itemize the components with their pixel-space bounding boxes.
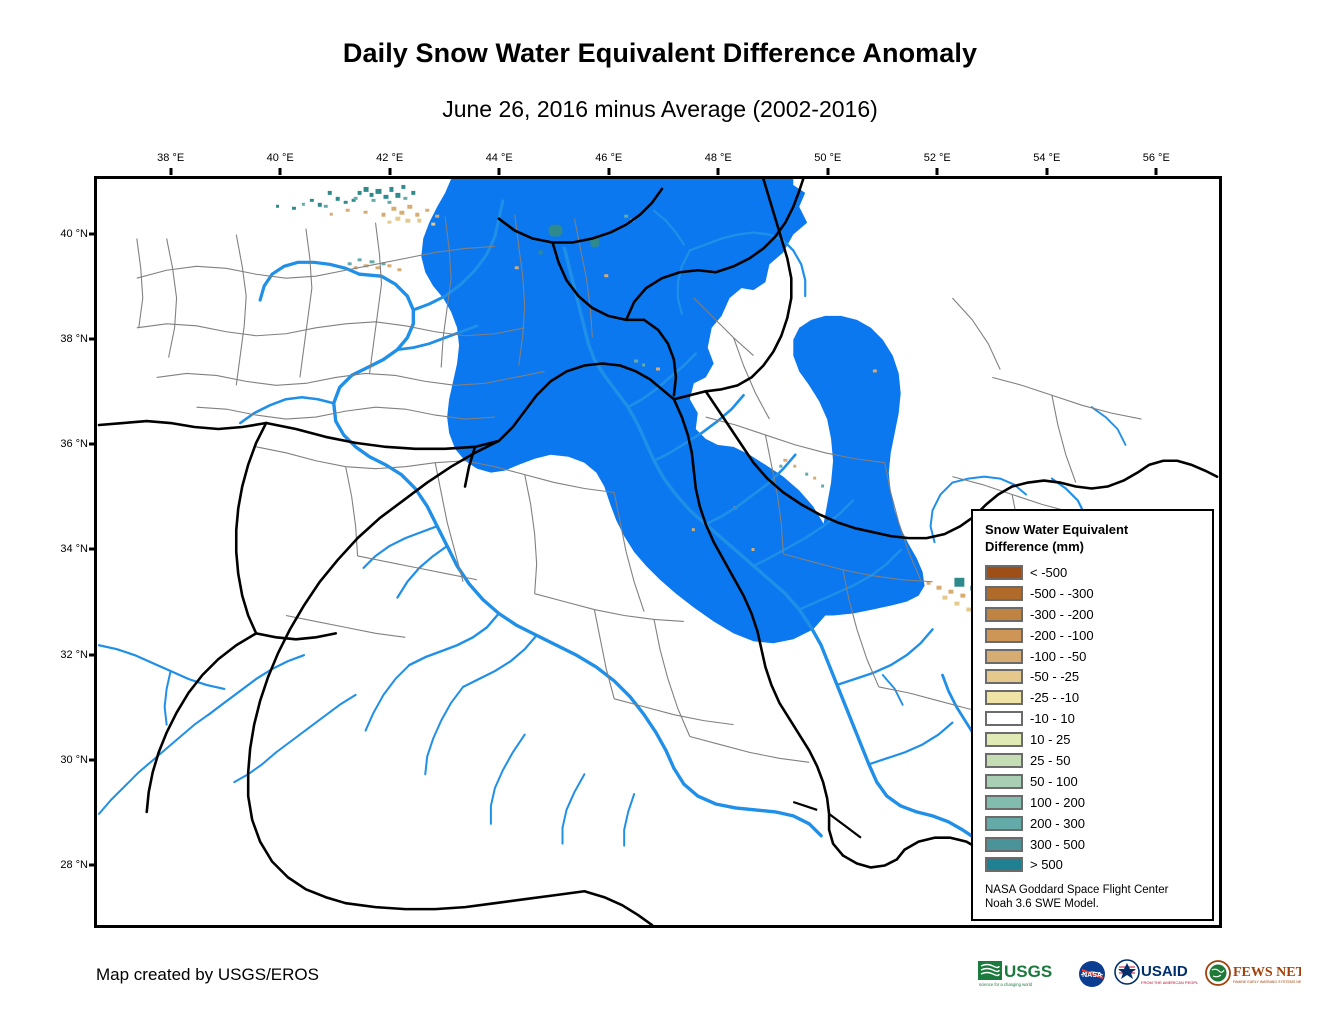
lon-tick-mark — [279, 168, 282, 175]
lon-tick-label: 54 °E — [1033, 152, 1060, 164]
lon-tick-label: 46 °E — [595, 152, 622, 164]
lon-tick-mark — [1155, 168, 1158, 175]
legend-swatch — [985, 586, 1023, 601]
legend-source: NASA Goddard Space Flight Center Noah 3.… — [985, 883, 1212, 911]
legend-row[interactable]: 200 - 300 — [985, 813, 1212, 834]
legend-swatch — [985, 669, 1023, 684]
legend-source-line2: Noah 3.6 SWE Model. — [985, 897, 1212, 911]
map-legend[interactable]: Snow Water Equivalent Difference (mm) < … — [971, 509, 1214, 921]
legend-row[interactable]: -10 - 10 — [985, 708, 1212, 729]
legend-swatch — [985, 607, 1023, 622]
legend-label: 300 - 500 — [1030, 837, 1085, 852]
lon-tick-mark — [1045, 168, 1048, 175]
agency-logo-bar: USGS science for a changing world NASA U… — [978, 958, 1301, 990]
lon-tick-mark — [607, 168, 610, 175]
legend-label: 10 - 25 — [1030, 732, 1070, 747]
lon-tick-label: 50 °E — [814, 152, 841, 164]
svg-text:USGS: USGS — [1004, 962, 1052, 981]
svg-text:USAID: USAID — [1141, 963, 1188, 980]
lat-tick-label: 38 °N — [44, 333, 88, 345]
lat-tick-label: 40 °N — [44, 228, 88, 240]
lat-tick-label: 36 °N — [44, 438, 88, 450]
legend-title: Snow Water Equivalent Difference (mm) — [985, 521, 1195, 555]
legend-swatch — [985, 837, 1023, 852]
map-credit: Map created by USGS/EROS — [96, 965, 319, 985]
nasa-logo: NASA — [1077, 959, 1107, 989]
lon-tick-label: 52 °E — [924, 152, 951, 164]
legend-source-line1: NASA Goddard Space Flight Center — [985, 883, 1212, 897]
legend-title-line2: Difference (mm) — [985, 538, 1195, 555]
legend-swatch — [985, 774, 1023, 789]
fewsnet-logo: FEWS NET FAMINE EARLY WARNING SYSTEMS NE… — [1205, 959, 1301, 989]
legend-row[interactable]: < -500 — [985, 562, 1212, 583]
legend-swatch — [985, 628, 1023, 643]
lon-tick-label: 44 °E — [486, 152, 513, 164]
lat-tick-label: 32 °N — [44, 649, 88, 661]
lon-tick-mark — [169, 168, 172, 175]
legend-label: > 500 — [1030, 857, 1063, 872]
legend-label: -200 - -100 — [1030, 628, 1094, 643]
legend-row[interactable]: 25 - 50 — [985, 750, 1212, 771]
legend-row[interactable]: -100 - -50 — [985, 646, 1212, 667]
legend-swatch — [985, 753, 1023, 768]
lon-tick-label: 40 °E — [267, 152, 294, 164]
legend-swatch — [985, 795, 1023, 810]
lat-tick-label: 34 °N — [44, 543, 88, 555]
legend-swatch — [985, 649, 1023, 664]
legend-items: < -500-500 - -300-300 - -200-200 - -100-… — [985, 562, 1212, 875]
legend-label: 25 - 50 — [1030, 753, 1070, 768]
lon-tick-label: 42 °E — [376, 152, 403, 164]
legend-row[interactable]: -500 - -300 — [985, 583, 1212, 604]
legend-swatch — [985, 857, 1023, 872]
legend-swatch — [985, 816, 1023, 831]
lon-tick-label: 38 °E — [157, 152, 184, 164]
legend-label: -300 - -200 — [1030, 607, 1094, 622]
page-title: Daily Snow Water Equivalent Difference A… — [0, 38, 1320, 69]
usaid-logo: USAID FROM THE AMERICAN PEOPLE — [1114, 959, 1198, 989]
legend-label: -100 - -50 — [1030, 649, 1086, 664]
legend-row[interactable]: 10 - 25 — [985, 729, 1212, 750]
lon-tick-mark — [826, 168, 829, 175]
lon-tick-label: 56 °E — [1143, 152, 1170, 164]
legend-label: -500 - -300 — [1030, 586, 1094, 601]
legend-row[interactable]: 300 - 500 — [985, 834, 1212, 855]
legend-title-line1: Snow Water Equivalent — [985, 521, 1195, 538]
lon-tick-mark — [936, 168, 939, 175]
legend-row[interactable]: 100 - 200 — [985, 792, 1212, 813]
lon-tick-label: 48 °E — [705, 152, 732, 164]
svg-text:FAMINE EARLY WARNING SYSTEMS N: FAMINE EARLY WARNING SYSTEMS NETWORK — [1233, 980, 1301, 984]
legend-row[interactable]: -300 - -200 — [985, 604, 1212, 625]
page-subtitle: June 26, 2016 minus Average (2002-2016) — [0, 96, 1320, 123]
legend-label: 50 - 100 — [1030, 774, 1078, 789]
lat-tick-label: 30 °N — [44, 754, 88, 766]
caspian-sea — [421, 179, 924, 643]
svg-text:FROM THE AMERICAN PEOPLE: FROM THE AMERICAN PEOPLE — [1141, 980, 1198, 985]
legend-row[interactable]: -50 - -25 — [985, 666, 1212, 687]
lon-tick-mark — [717, 168, 720, 175]
usgs-logo: USGS science for a changing world — [978, 959, 1070, 989]
legend-swatch — [985, 711, 1023, 726]
lat-tick-label: 28 °N — [44, 859, 88, 871]
legend-row[interactable]: 50 - 100 — [985, 771, 1212, 792]
legend-swatch — [985, 690, 1023, 705]
legend-label: < -500 — [1030, 565, 1067, 580]
lon-tick-mark — [498, 168, 501, 175]
svg-text:science for a changing world: science for a changing world — [979, 982, 1033, 987]
legend-swatch — [985, 732, 1023, 747]
legend-label: -50 - -25 — [1030, 669, 1079, 684]
legend-label: -10 - 10 — [1030, 711, 1075, 726]
legend-label: -25 - -10 — [1030, 690, 1079, 705]
lon-tick-mark — [388, 168, 391, 175]
svg-text:FEWS NET: FEWS NET — [1233, 965, 1301, 980]
legend-label: 100 - 200 — [1030, 795, 1085, 810]
legend-row[interactable]: -200 - -100 — [985, 625, 1212, 646]
legend-row[interactable]: > 500 — [985, 854, 1212, 875]
legend-swatch — [985, 565, 1023, 580]
legend-row[interactable]: -25 - -10 — [985, 687, 1212, 708]
svg-text:NASA: NASA — [1082, 972, 1102, 979]
legend-label: 200 - 300 — [1030, 816, 1085, 831]
